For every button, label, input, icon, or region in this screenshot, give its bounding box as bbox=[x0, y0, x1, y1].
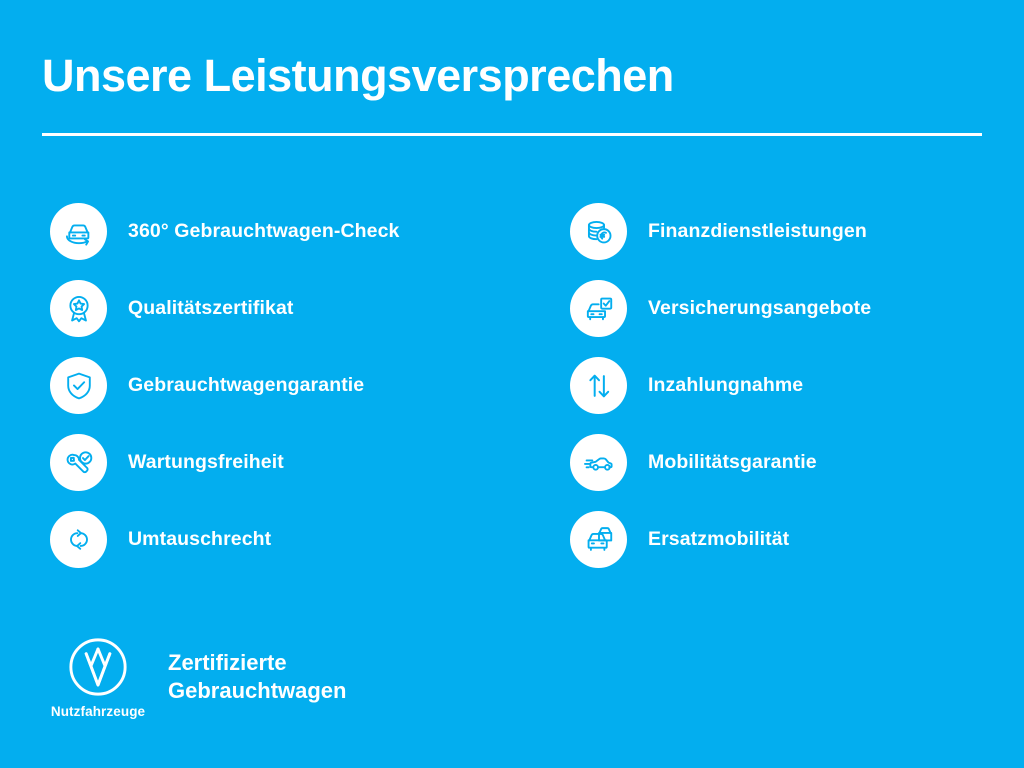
page-title: Unsere Leistungsversprechen bbox=[42, 52, 674, 99]
benefit-label: Finanzdienstleistungen bbox=[648, 220, 867, 243]
benefit-item: Ersatzmobilität bbox=[570, 511, 1010, 568]
benefits-left-column: 360° Gebrauchtwagen-Check Qualitätszerti… bbox=[50, 203, 520, 568]
benefit-item: Inzahlungnahme bbox=[570, 357, 1010, 414]
benefit-label: Inzahlungnahme bbox=[648, 374, 803, 397]
benefit-label: Mobilitätsgarantie bbox=[648, 451, 817, 474]
benefit-label: Ersatzmobilität bbox=[648, 528, 789, 551]
slide-root: Unsere Leistungsversprechen 360° Gebrauc… bbox=[0, 0, 1024, 768]
car-360-check-icon bbox=[50, 203, 107, 260]
exchange-arrows-icon bbox=[50, 511, 107, 568]
benefit-item: Wartungsfreiheit bbox=[50, 434, 520, 491]
footer-claim-line2: Gebrauchtwagen bbox=[168, 677, 346, 705]
car-checkbox-icon bbox=[570, 280, 627, 337]
two-cars-icon bbox=[570, 511, 627, 568]
benefit-label: Wartungsfreiheit bbox=[128, 451, 284, 474]
footer-claim: Zertifizierte Gebrauchtwagen bbox=[168, 649, 346, 705]
footer-logo-lockup: Nutzfahrzeuge Zertifizierte Gebrauchtwag… bbox=[42, 636, 346, 719]
shield-check-icon bbox=[50, 357, 107, 414]
footer-claim-line1: Zertifizierte bbox=[168, 649, 346, 677]
award-rosette-icon bbox=[50, 280, 107, 337]
volkswagen-logo-icon bbox=[67, 636, 129, 698]
up-down-arrows-icon bbox=[570, 357, 627, 414]
benefit-item: Mobilitätsgarantie bbox=[570, 434, 1010, 491]
logo-subtitle: Nutzfahrzeuge bbox=[51, 704, 145, 719]
wrench-check-icon bbox=[50, 434, 107, 491]
benefit-item: Gebrauchtwagengarantie bbox=[50, 357, 520, 414]
benefit-item: Qualitätszertifikat bbox=[50, 280, 520, 337]
benefit-label: Gebrauchtwagengarantie bbox=[128, 374, 364, 397]
benefit-item: Versicherungsangebote bbox=[570, 280, 1010, 337]
title-divider bbox=[42, 133, 982, 136]
volkswagen-logo-block: Nutzfahrzeuge bbox=[42, 636, 154, 719]
benefit-item: Finanzdienstleistungen bbox=[570, 203, 1010, 260]
benefit-label: Versicherungsangebote bbox=[648, 297, 871, 320]
benefit-label: Qualitätszertifikat bbox=[128, 297, 294, 320]
coins-euro-icon bbox=[570, 203, 627, 260]
benefit-label: 360° Gebrauchtwagen-Check bbox=[128, 220, 399, 243]
car-motion-icon bbox=[570, 434, 627, 491]
benefit-item: 360° Gebrauchtwagen-Check bbox=[50, 203, 520, 260]
benefits-right-column: Finanzdienstleistungen Versicherungsange… bbox=[570, 203, 1010, 568]
benefit-label: Umtauschrecht bbox=[128, 528, 271, 551]
benefit-item: Umtauschrecht bbox=[50, 511, 520, 568]
